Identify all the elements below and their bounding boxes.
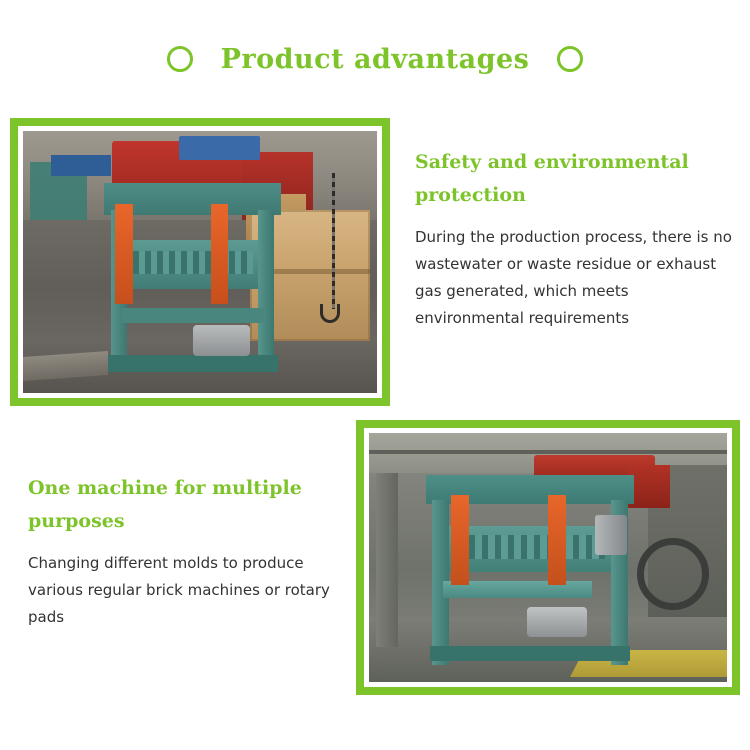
- photo-1-hanging-chain: [332, 173, 335, 309]
- photo-1-motor: [193, 325, 250, 356]
- machine-base: [430, 646, 629, 661]
- photo-2-hydraulic-cylinder: [595, 515, 627, 555]
- advantage-body-safety: During the production process, there is …: [415, 224, 735, 332]
- photo-2-motor: [527, 607, 588, 637]
- photo-2-orange-guide-left: [451, 495, 469, 585]
- advantage-title-multipurpose: One machine for multiple purposes: [28, 472, 348, 538]
- product-photo-2: [369, 433, 727, 682]
- machine-mold-box: [127, 240, 258, 289]
- page-title: Product advantages: [221, 44, 530, 75]
- photo-2-roof-beam: [369, 450, 727, 454]
- page-header: Product advantages: [0, 34, 750, 84]
- machine-shelf: [122, 308, 264, 323]
- photo-1-blue-beam-secondary: [51, 155, 111, 176]
- photo-1-blue-beam: [179, 136, 260, 160]
- photo-2-cable-reel: [637, 538, 709, 610]
- machine-mold-box: [449, 526, 611, 571]
- circle-outline-icon: [167, 46, 193, 72]
- product-image-safety: [10, 118, 390, 406]
- photo-2-orange-guide-right: [548, 495, 566, 585]
- advantage-text-safety: Safety and environmental protection Duri…: [415, 146, 735, 332]
- product-photo-1: [23, 131, 377, 393]
- photo-1-chain-hook: [320, 304, 340, 323]
- circle-outline-icon: [557, 46, 583, 72]
- advantage-title-safety: Safety and environmental protection: [415, 146, 735, 212]
- advantage-text-multipurpose: One machine for multiple purposes Changi…: [28, 472, 348, 631]
- photo-2-left-pillar: [376, 473, 397, 647]
- photo-1-orange-guide-left: [115, 204, 133, 304]
- photo-1-orange-guide-right: [211, 204, 229, 304]
- machine-base: [108, 355, 278, 372]
- product-image-multipurpose: [356, 420, 740, 695]
- advantage-body-multipurpose: Changing different molds to produce vari…: [28, 550, 348, 631]
- machine-right-column: [258, 210, 274, 372]
- product-advantages-page: Product advantages: [0, 0, 750, 750]
